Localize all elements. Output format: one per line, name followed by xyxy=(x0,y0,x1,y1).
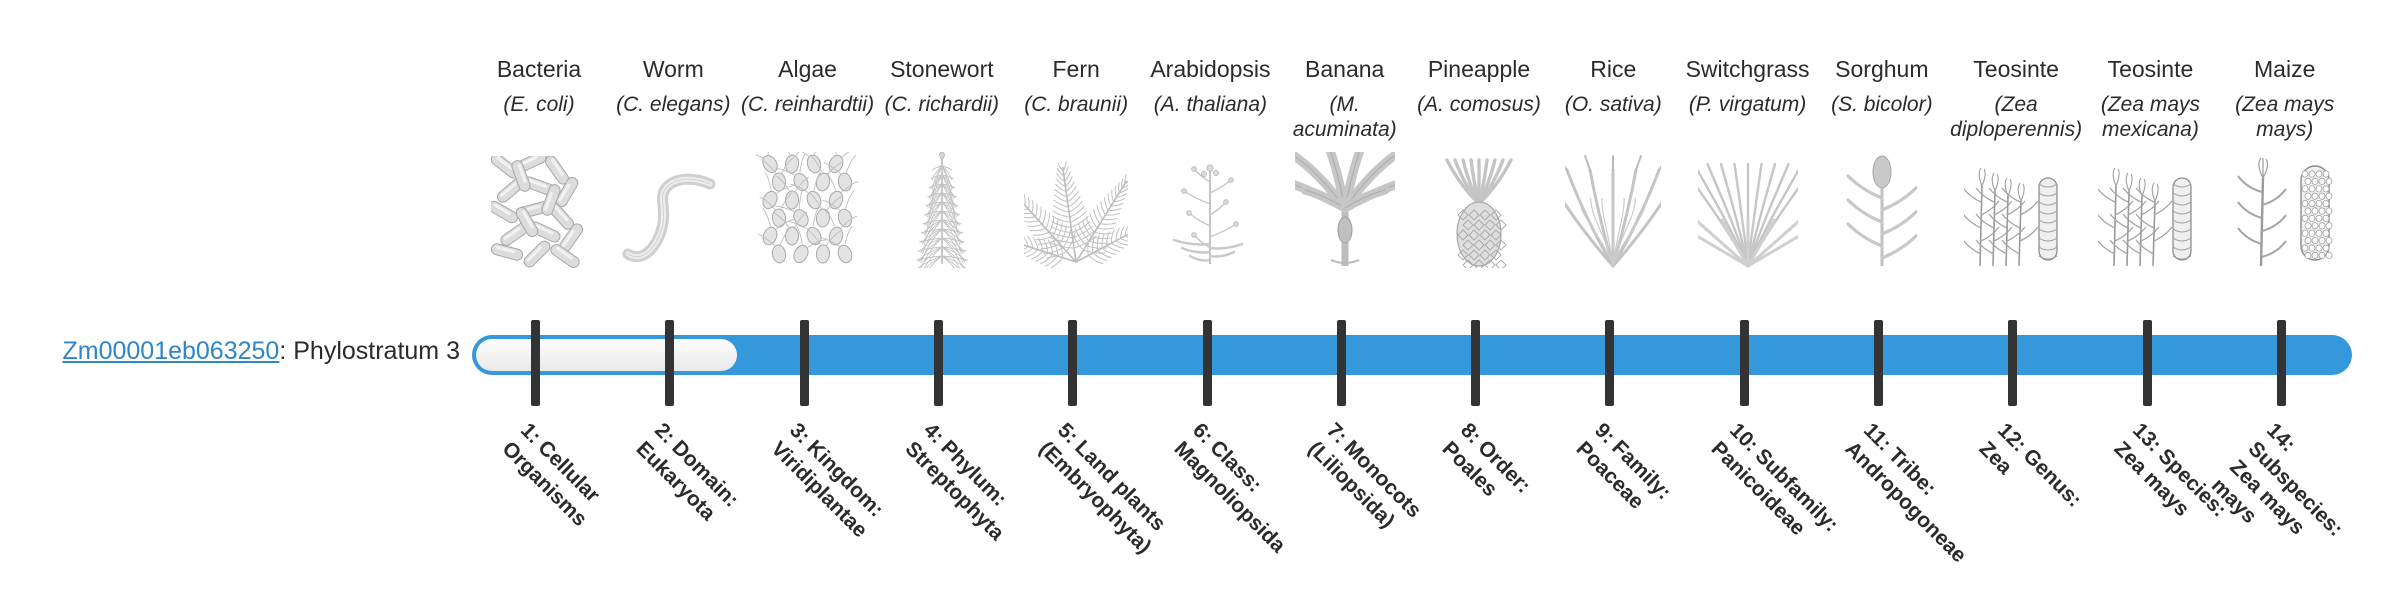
phylostratum-tick-7 xyxy=(1337,320,1346,406)
species-common-name: Stonewort xyxy=(875,56,1009,83)
rank-label-11: 11: Tribe: Andropogoneae xyxy=(1839,418,1982,561)
phylostratum-value-text: Phylostratum 3 xyxy=(293,337,460,365)
phylostratum-tick-1 xyxy=(531,320,540,406)
phylostratum-tick-5 xyxy=(1068,320,1077,406)
bacteria-illustration xyxy=(472,168,606,268)
rank-label-6: 6: Class: Magnoliopsida xyxy=(1168,418,1311,561)
rank-label-1: 1: Cellular Organisms xyxy=(496,418,639,561)
algae-illustration xyxy=(741,168,875,268)
rank-label-5: 5: Land plants (Embryophyta) xyxy=(1033,418,1176,561)
rank-label-3: 3: Kingdom: Viridiplantae xyxy=(765,418,908,561)
phylostratum-tick-9 xyxy=(1605,320,1614,406)
phylostratum-tick-6 xyxy=(1203,320,1212,406)
rank-label-12: 12: Genus: Zea xyxy=(1973,418,2116,561)
species-common-name: Switchgrass xyxy=(1681,56,1815,83)
rank-label-7: 7: Monocots (Liliopsida) xyxy=(1302,418,1445,561)
species-scientific-name: (E. coli) xyxy=(472,92,606,117)
switchgrass-illustration xyxy=(1681,168,1815,268)
banana-illustration xyxy=(1278,168,1412,268)
phylostratum-tick-13 xyxy=(2143,320,2152,406)
gene-id-link[interactable]: Zm00001eb063250 xyxy=(62,337,279,365)
phylostratum-tick-14 xyxy=(2277,320,2286,406)
species-common-name: Banana xyxy=(1278,56,1412,83)
species-common-name: Worm xyxy=(606,56,740,83)
rank-label-2: 2: Domain: Eukaryota xyxy=(631,418,774,561)
species-scientific-name: (Zea diploperennis) xyxy=(1949,92,2083,142)
teosinte-illustration xyxy=(2083,168,2217,268)
gene-phylostratum-label: Zm00001eb063250: Phylostratum 3 xyxy=(40,336,460,366)
phylostratum-tick-8 xyxy=(1471,320,1480,406)
fern-illustration xyxy=(1009,168,1143,268)
species-common-name: Teosinte xyxy=(1949,56,2083,83)
species-scientific-name: (C. elegans) xyxy=(606,92,740,117)
species-common-name: Pineapple xyxy=(1412,56,1546,83)
species-scientific-name: (M. acuminata) xyxy=(1278,92,1412,142)
species-scientific-name: (Zea mays mexicana) xyxy=(2083,92,2217,142)
species-scientific-name: (C. reinhardtii) xyxy=(741,92,875,117)
species-columns: Bacteria(E. coli) xyxy=(472,0,2352,580)
species-scientific-name: (A. thaliana) xyxy=(1143,92,1277,117)
rank-label-4: 4: Phylum: Streptophyta xyxy=(899,418,1042,561)
stonewort-illustration xyxy=(875,168,1009,268)
rank-label-14: 14: Subspecies: Zea mays mays xyxy=(2205,418,2385,598)
nematode-illustration xyxy=(606,168,740,268)
rank-label-9: 9: Family: Poaceae xyxy=(1571,418,1714,561)
species-scientific-name: (O. sativa) xyxy=(1546,92,1680,117)
rank-label-8: 8: Order: Poales xyxy=(1436,418,1579,561)
phylostratum-tick-4 xyxy=(934,320,943,406)
species-common-name: Sorghum xyxy=(1815,56,1949,83)
species-scientific-name: (S. bicolor) xyxy=(1815,92,1949,117)
species-scientific-name: (C. richardii) xyxy=(875,92,1009,117)
species-common-name: Teosinte xyxy=(2083,56,2217,83)
species-common-name: Arabidopsis xyxy=(1143,56,1277,83)
species-scientific-name: (Zea mays mays) xyxy=(2218,92,2352,142)
phylostratum-tick-11 xyxy=(1874,320,1883,406)
maize-illustration xyxy=(2218,168,2352,268)
gene-label-separator: : xyxy=(279,337,293,365)
phylostratum-tick-10 xyxy=(1740,320,1749,406)
rank-label-10: 10: Subfamily: Panicoideae xyxy=(1705,418,1848,561)
arabidopsis-illustration xyxy=(1143,168,1277,268)
phylostratum-tick-2 xyxy=(665,320,674,406)
species-common-name: Fern xyxy=(1009,56,1143,83)
phylostratum-tick-3 xyxy=(800,320,809,406)
species-scientific-name: (P. virgatum) xyxy=(1681,92,1815,117)
sorghum-illustration xyxy=(1815,168,1949,268)
species-common-name: Bacteria xyxy=(472,56,606,83)
species-scientific-name: (C. braunii) xyxy=(1009,92,1143,117)
species-common-name: Rice xyxy=(1546,56,1680,83)
species-common-name: Maize xyxy=(2218,56,2352,83)
teosinte-illustration xyxy=(1949,168,2083,268)
species-common-name: Algae xyxy=(741,56,875,83)
pineapple-illustration xyxy=(1412,168,1546,268)
rice-illustration xyxy=(1546,168,1680,268)
phylostratigraphy-figure: Zm00001eb063250: Phylostratum 3 Bacteria… xyxy=(0,0,2400,580)
phylostratum-tick-12 xyxy=(2008,320,2017,406)
species-scientific-name: (A. comosus) xyxy=(1412,92,1546,117)
